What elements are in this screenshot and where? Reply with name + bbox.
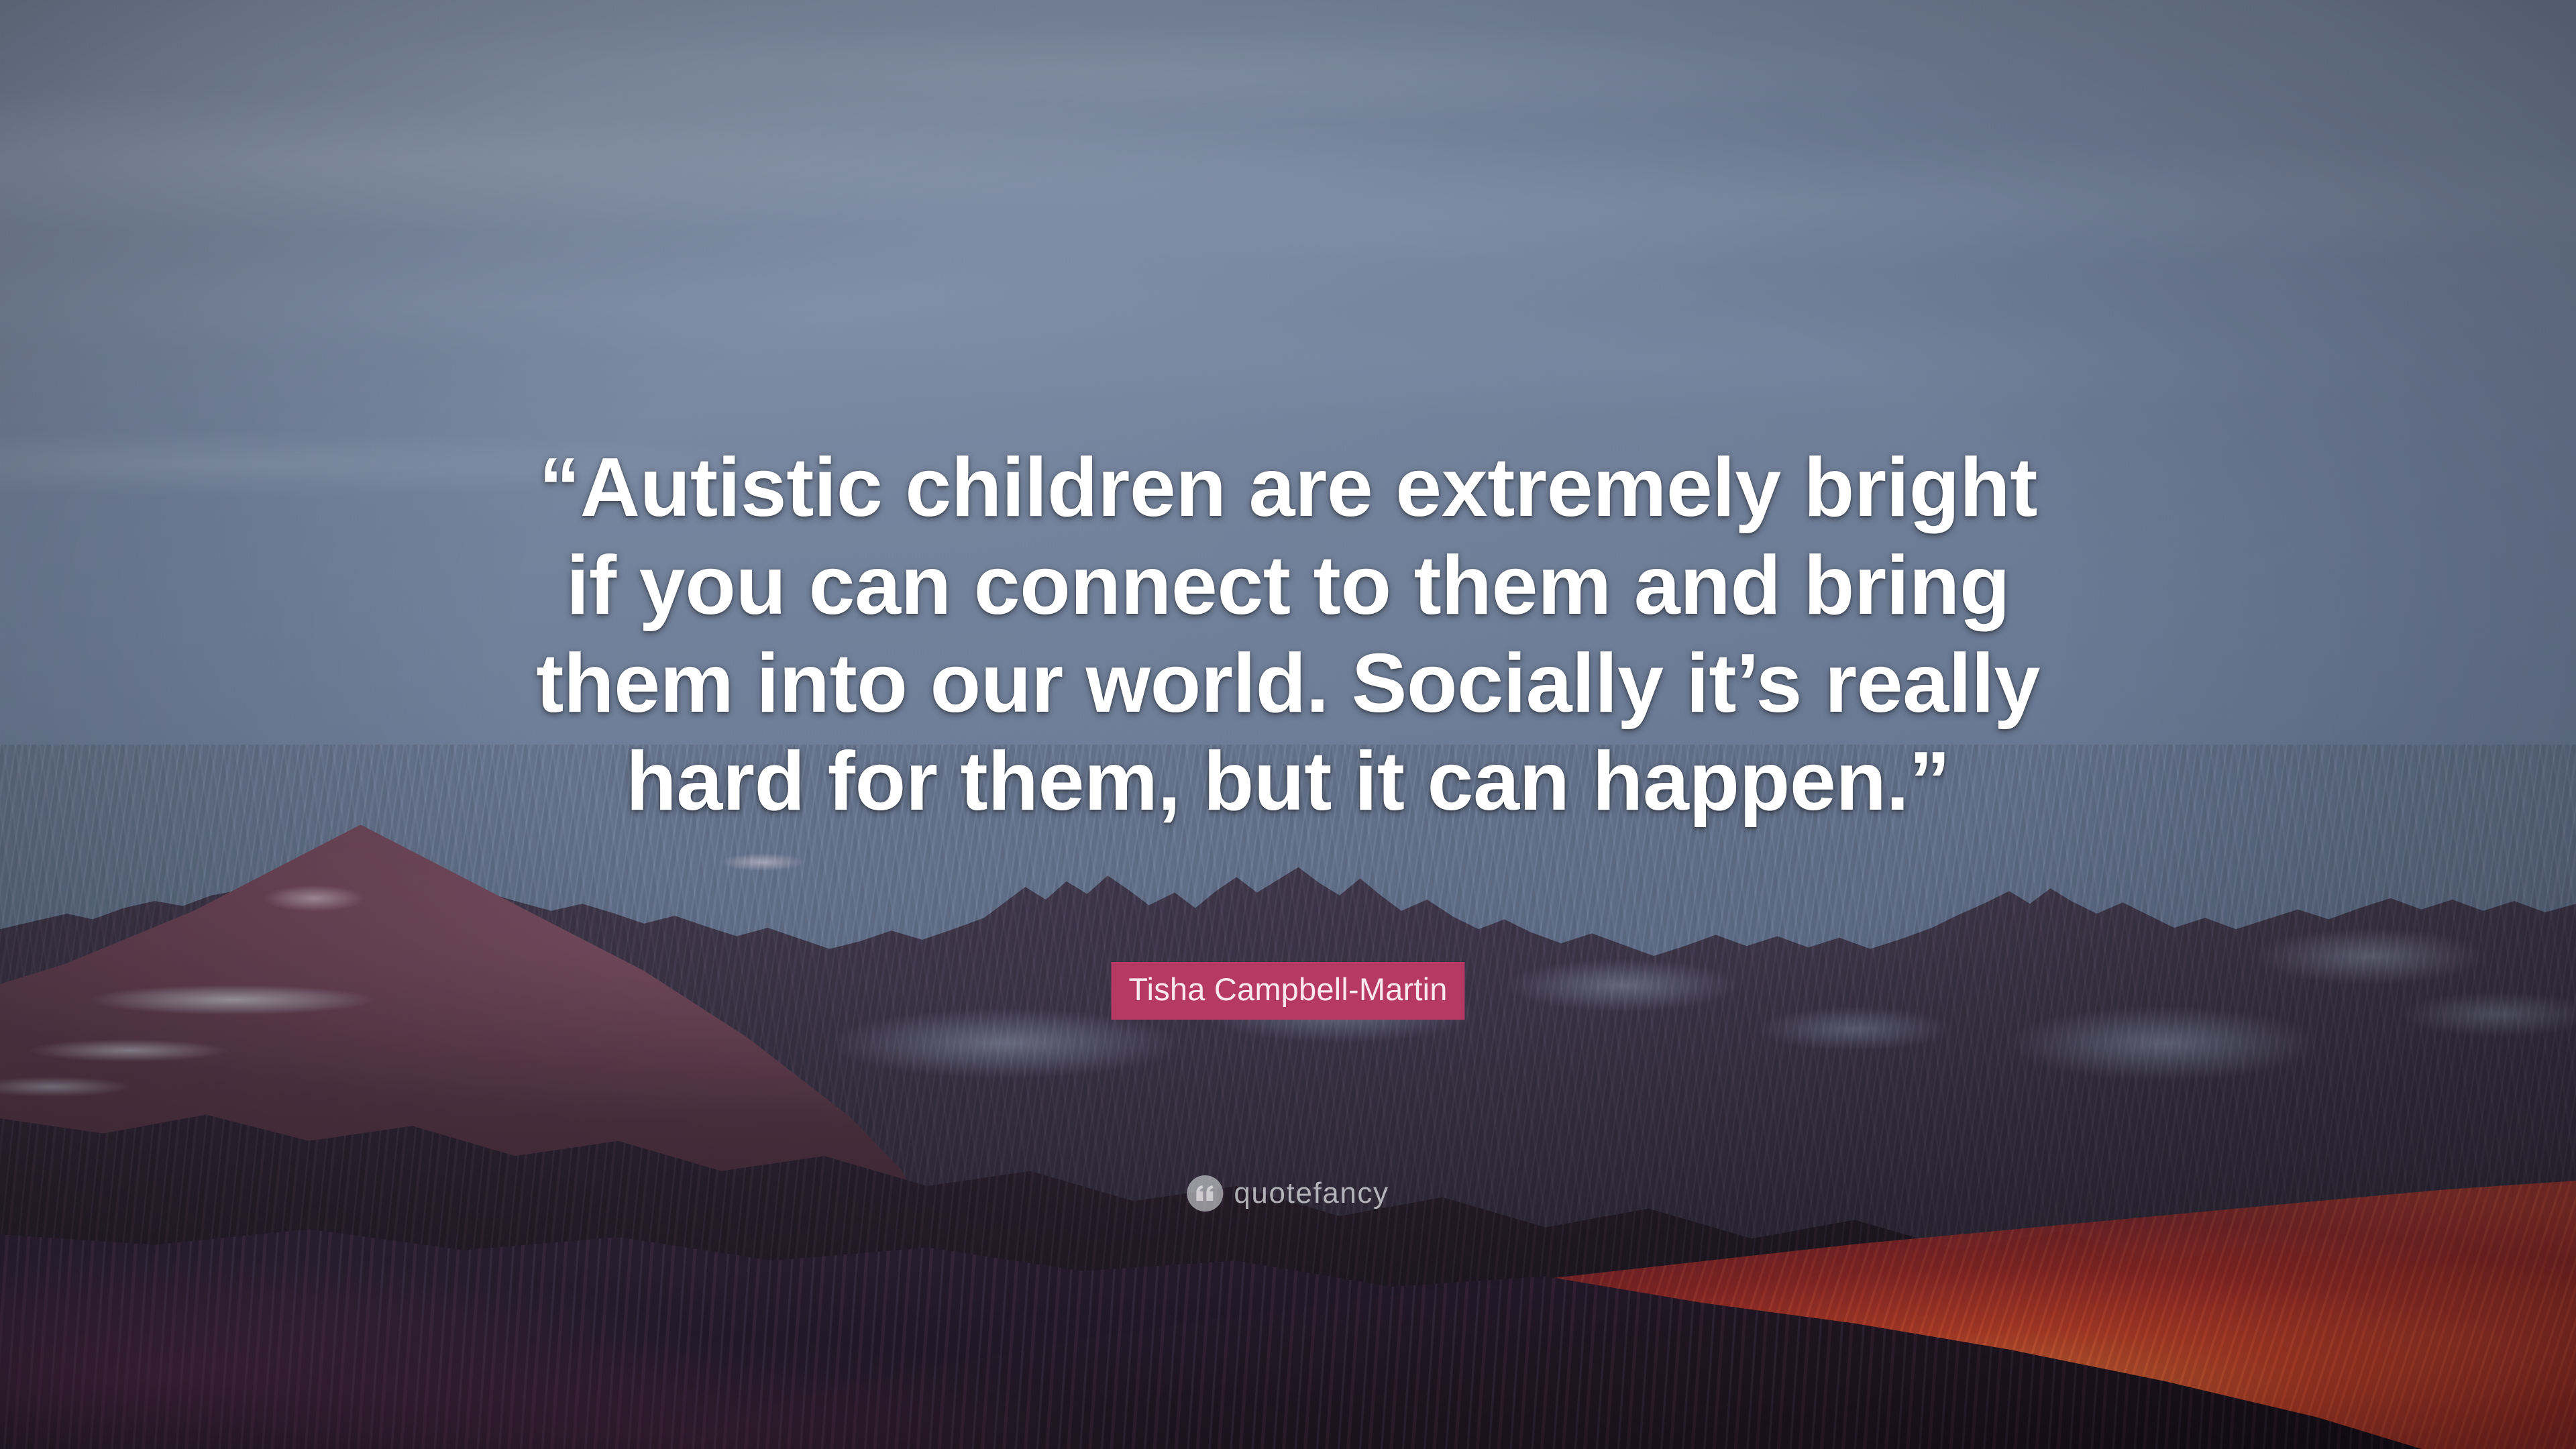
quote-text: “Autistic children are extremely bright …: [429, 439, 2147, 830]
content-layer: “Autistic children are extremely bright …: [0, 0, 2576, 1449]
author-name: Tisha Campbell-Martin: [1128, 970, 1447, 1009]
quotefancy-watermark[interactable]: quotefancy: [1187, 1175, 1389, 1212]
double-quote-icon: [1187, 1175, 1223, 1212]
quote-poster: “Autistic children are extremely bright …: [0, 0, 2576, 1449]
attribution-badge: Tisha Campbell-Martin: [1111, 962, 1464, 1020]
quotefancy-wordmark: quotefancy: [1234, 1175, 1389, 1212]
